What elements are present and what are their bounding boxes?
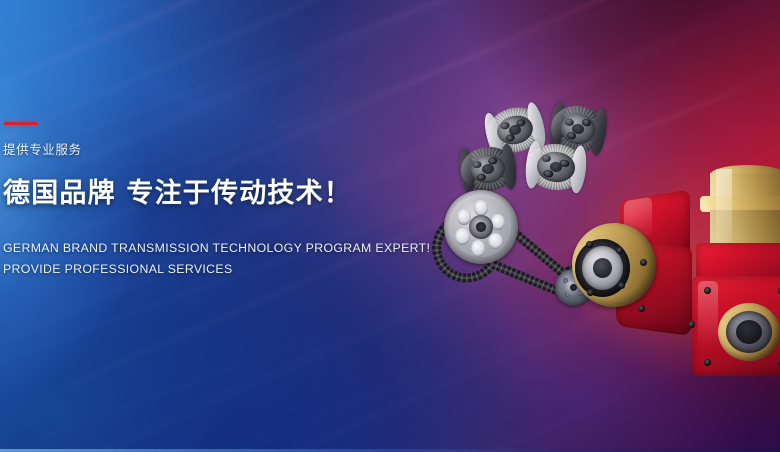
flange-bolt [586,241,593,248]
pulley-lightening-hole [471,240,486,256]
promo-banner: 提供专业服务 德国品牌 专注于传动技术！ GERMAN BRAND TRANSM… [0,0,780,452]
face-bolt [688,321,695,328]
flange-bolt [587,289,594,296]
banner-copy: 提供专业服务 德国品牌 专注于传动技术！ GERMAN BRAND TRANSM… [3,112,430,280]
pulley-lightening-hole [455,228,470,244]
banner-english-copy: GERMAN BRAND TRANSMISSION TECHNOLOGY PRO… [3,238,430,280]
accent-rule [4,122,37,125]
pulley-hub [469,215,493,239]
housing-bolt [640,259,647,266]
face-bolt [704,359,711,366]
housing-bolt [638,305,645,312]
pulley-bolt [477,173,486,181]
pulley-lightening-hole [474,200,489,216]
gearbox-output-bore [593,258,612,278]
flange-bolt [618,282,625,289]
output-bore [736,320,762,344]
right-angle-gearbox-right [686,163,780,363]
timing-pulley-3 [459,144,517,193]
gearbox-highlight [698,281,718,371]
banner-headline: 德国品牌 专注于传动技术！ [3,171,430,210]
banner-kicker: 提供专业服务 [3,139,430,158]
pulley-lightening-hole [491,214,506,230]
belt-drive-pulley-large [444,190,518,264]
brass-highlight [716,169,732,245]
face-bolt [704,287,711,294]
flange-bolt [616,247,623,254]
english-line-2: PROVIDE PROFESSIONAL SERVICES [3,259,430,280]
english-line-1: GERMAN BRAND TRANSMISSION TECHNOLOGY PRO… [3,238,430,259]
